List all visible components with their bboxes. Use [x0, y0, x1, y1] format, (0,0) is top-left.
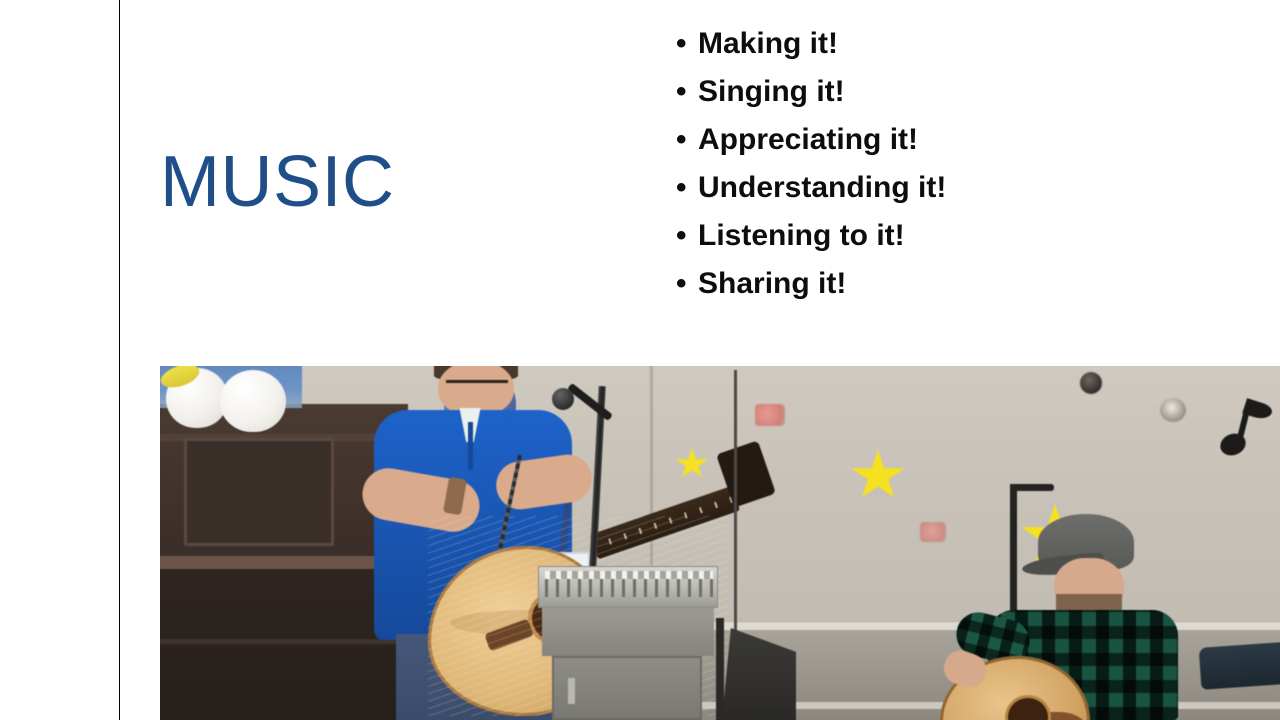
bullet-marker-icon: • — [676, 216, 687, 256]
page-title: MUSIC — [160, 140, 395, 224]
list-item: • Making it! — [672, 24, 1272, 72]
list-item-label: Making it! — [698, 27, 838, 60]
piano-front-panel — [184, 438, 334, 546]
list-item: • Singing it! — [672, 72, 1272, 120]
floor-lamp-arm — [1010, 484, 1054, 491]
list-item: • Appreciating it! — [672, 120, 1272, 168]
glasses-icon — [446, 380, 508, 389]
list-item: • Understanding it! — [672, 168, 1272, 216]
list-item-label: Appreciating it! — [698, 123, 918, 156]
list-item-label: Sharing it! — [698, 267, 846, 300]
bullet-marker-icon: • — [676, 24, 687, 64]
wall-decoration — [1160, 398, 1186, 422]
left-vertical-divider — [119, 0, 120, 720]
mixer-rack — [538, 566, 718, 720]
white-balloon — [220, 370, 286, 432]
bullet-marker-icon: • — [676, 72, 687, 112]
bullet-marker-icon: • — [676, 120, 687, 160]
audio-mixer — [538, 566, 718, 608]
rack-body — [542, 608, 714, 656]
slide-canvas: MUSIC • Making it! • Singing it! • Appre… — [0, 0, 1280, 720]
list-item: • Listening to it! — [672, 216, 1272, 264]
slide-photograph — [160, 366, 1280, 720]
list-item-label: Listening to it! — [698, 219, 905, 252]
equipment-case — [552, 656, 702, 720]
bullet-list: • Making it! • Singing it! • Appreciatin… — [672, 24, 1272, 312]
mixer-faders — [545, 571, 713, 579]
list-item-label: Understanding it! — [698, 171, 946, 204]
bullet-marker-icon: • — [676, 168, 687, 208]
speaker-stand — [716, 618, 724, 720]
shirt-placket — [468, 422, 473, 470]
floor-object — [1199, 640, 1280, 690]
microphone-icon — [552, 388, 574, 410]
wall-decoration — [920, 522, 946, 542]
wall-decoration — [1080, 372, 1102, 394]
list-item-label: Singing it! — [698, 75, 845, 108]
bullet-marker-icon: • — [676, 264, 687, 304]
case-latch — [568, 678, 575, 704]
mixer-knobs — [545, 579, 713, 597]
music-note-icon — [1220, 402, 1276, 462]
list-item: • Sharing it! — [672, 264, 1272, 312]
hanging-cable — [734, 370, 737, 670]
wall-decoration — [755, 404, 785, 426]
note-head — [1217, 430, 1249, 459]
